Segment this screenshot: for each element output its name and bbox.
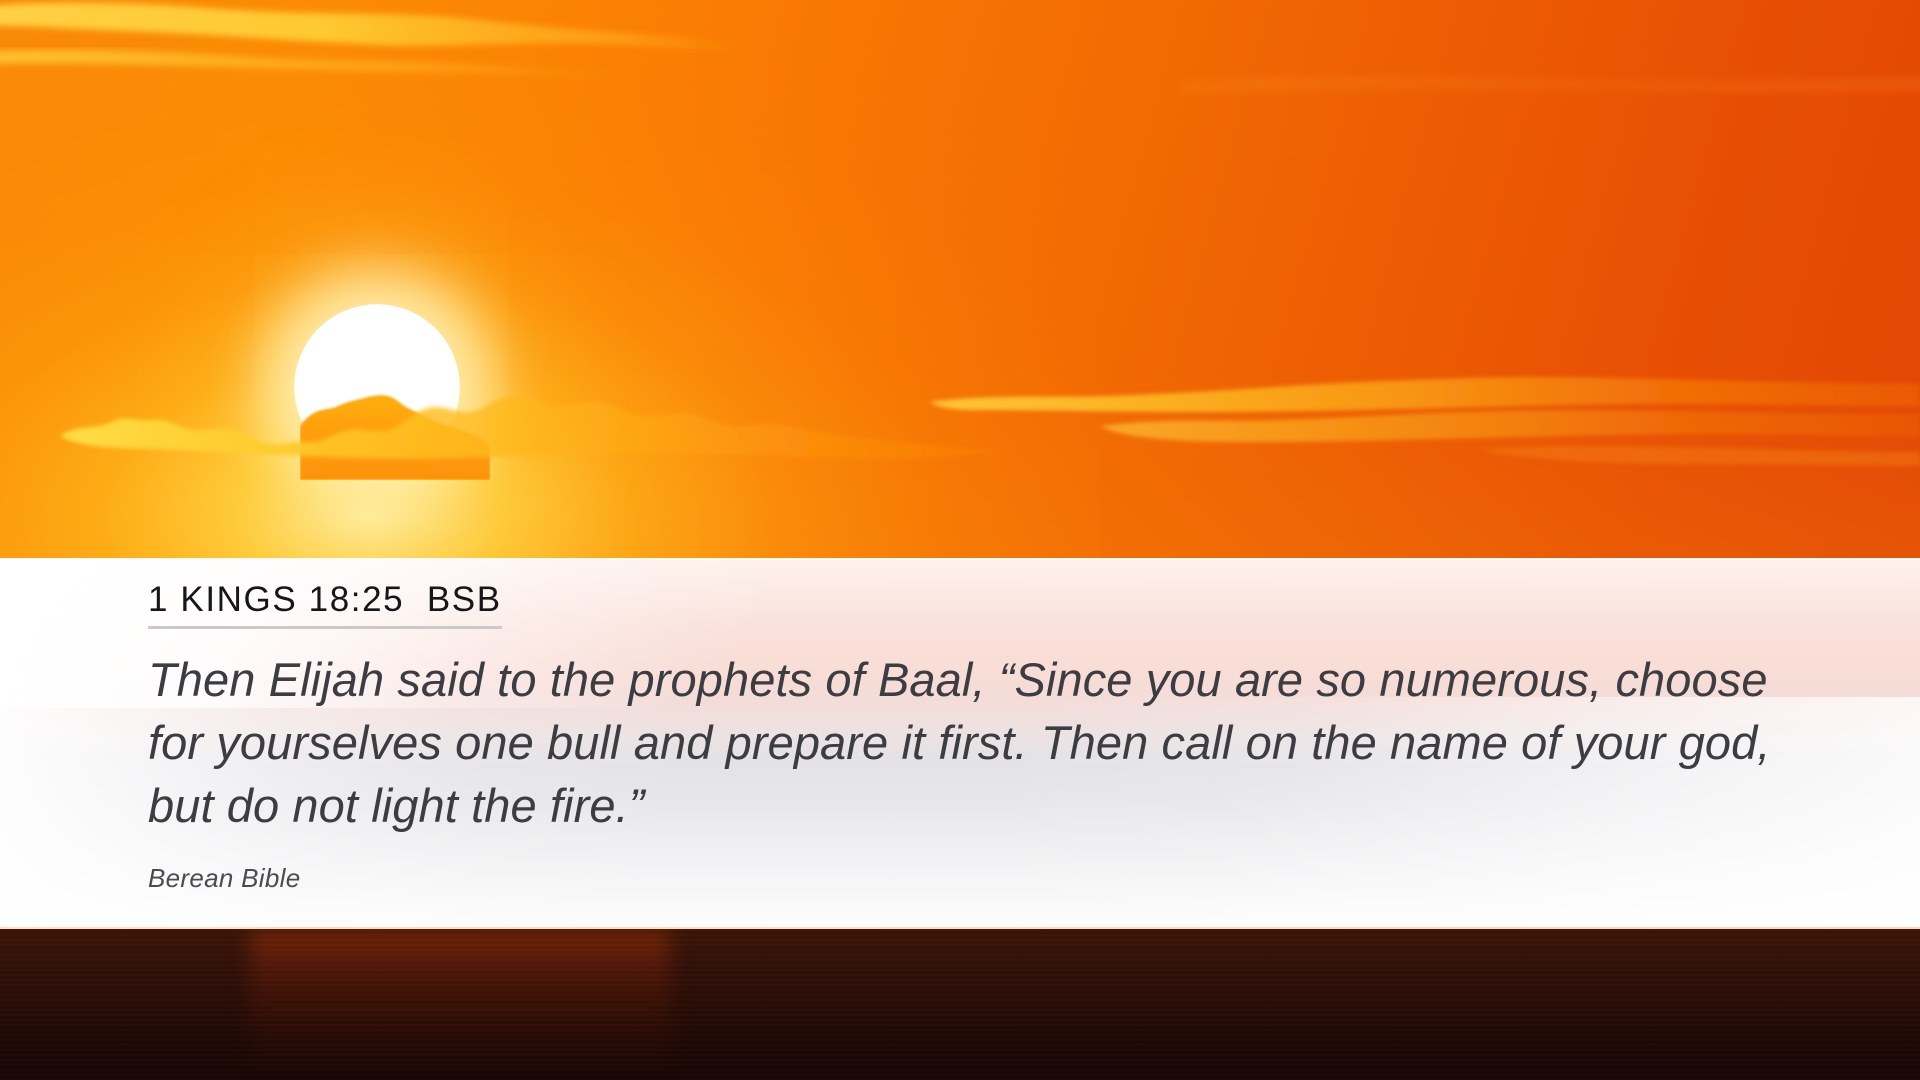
verse-reference: 1 KINGS 18:25 BSB bbox=[148, 582, 502, 629]
verse-text-block: 1 KINGS 18:25 BSB Then Elijah said to th… bbox=[148, 582, 1848, 894]
verse-text: Then Elijah said to the prophets of Baal… bbox=[148, 648, 1808, 837]
horizon-line bbox=[0, 927, 1920, 929]
wispy-cloud-streak-secondary-icon bbox=[0, 46, 680, 80]
overlay-top-hairline bbox=[0, 558, 1920, 560]
wispy-cloud-streak-right-icon bbox=[1180, 60, 1920, 100]
ocean-ripple-texture bbox=[0, 929, 1920, 1080]
verse-overlay-panel: 1 KINGS 18:25 BSB Then Elijah said to th… bbox=[0, 558, 1920, 927]
verse-image-canvas: 1 KINGS 18:25 BSB Then Elijah said to th… bbox=[0, 0, 1920, 1080]
verse-attribution: Berean Bible bbox=[148, 863, 1848, 894]
horizon-cloud-band-icon bbox=[0, 350, 1920, 480]
